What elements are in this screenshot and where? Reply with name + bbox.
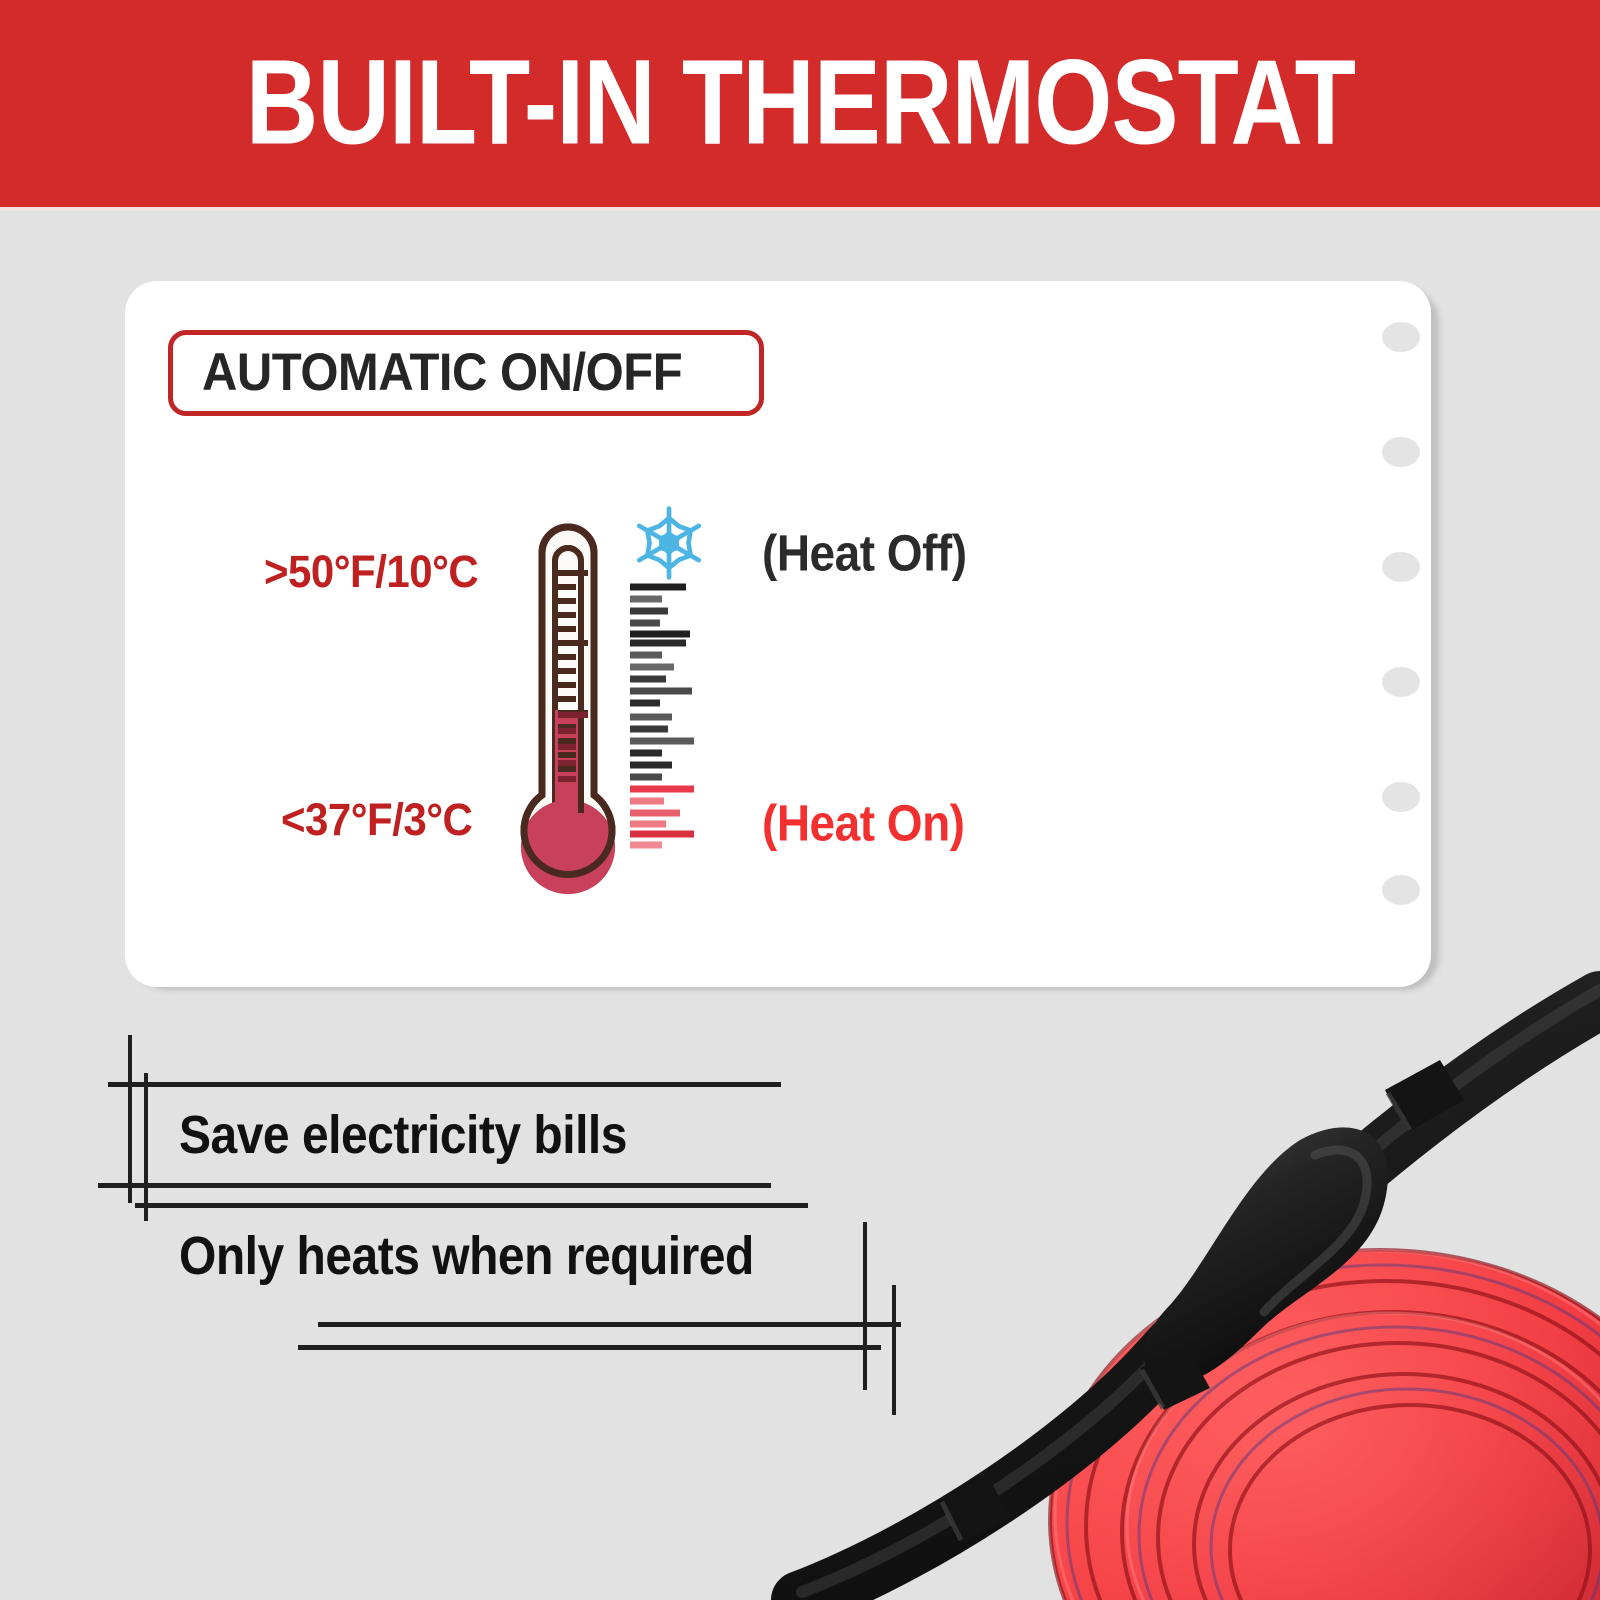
heat-on-label: (Heat On) (762, 793, 965, 852)
header-banner: BUILT-IN THERMOSTAT (0, 0, 1600, 207)
automatic-onoff-badge: AUTOMATIC ON/OFF (168, 330, 764, 416)
page-title: BUILT-IN THERMOSTAT (245, 41, 1354, 162)
binder-hole (1382, 782, 1420, 812)
feature-1-vline-inner (144, 1073, 148, 1221)
product-photo (740, 960, 1600, 1600)
banner-divider (0, 207, 1600, 211)
feature-1-hline-mid (98, 1183, 771, 1188)
feature-1-hline-top (108, 1082, 781, 1087)
threshold-low-label: <37°F/3°C (281, 794, 472, 846)
binder-hole (1382, 322, 1420, 352)
heat-off-label: (Heat Off) (762, 523, 967, 582)
feature-label-only-heats-when-required: Only heats when required (179, 1226, 754, 1288)
binder-hole (1382, 437, 1420, 467)
binder-hole (1382, 667, 1420, 697)
feature-label-save-electricity-bills: Save electricity bills (179, 1105, 627, 1167)
thermometer-icon (498, 495, 638, 940)
snowflake-icon (630, 504, 708, 587)
binder-hole (1382, 552, 1420, 582)
binder-hole (1382, 875, 1420, 905)
feature-1-hline-bot (135, 1203, 808, 1208)
feature-1-vline-left (128, 1035, 132, 1203)
badge-label: AUTOMATIC ON/OFF (202, 343, 682, 403)
temperature-scale-bars (628, 583, 712, 858)
threshold-high-label: >50°F/10°C (264, 546, 478, 598)
